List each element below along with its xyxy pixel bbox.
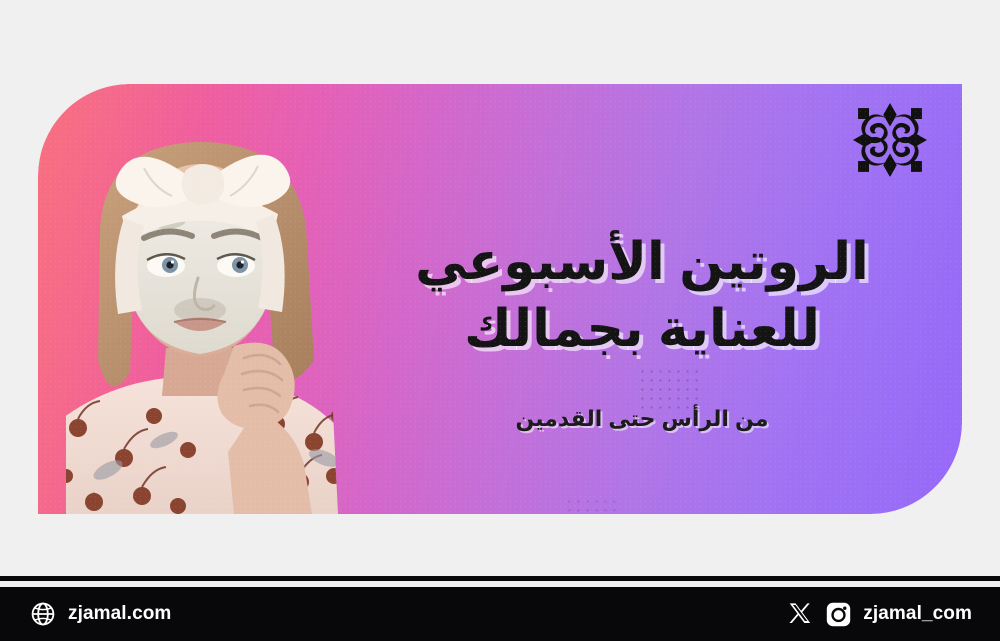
page-subtitle: من الرأس حتى القدمين (382, 406, 902, 432)
promo-banner-card: الروتين الأسبوعي للعناية بجمالك من الرأس… (38, 84, 962, 514)
social-handle-label: zjamal_com (863, 603, 972, 625)
model-photo-illustration (38, 110, 382, 514)
model-photo (38, 110, 382, 514)
website-group[interactable]: zjamal.com (30, 601, 171, 627)
dot-accent-primary (638, 367, 700, 409)
website-label: zjamal.com (68, 603, 171, 625)
arabesque-ornament-logo-icon (848, 98, 932, 182)
globe-icon (30, 601, 56, 627)
footer-bar: zjamal.com zjamal_com (0, 587, 1000, 641)
instagram-icon[interactable] (825, 601, 852, 628)
footer-top-rule (0, 576, 1000, 581)
social-group[interactable]: zjamal_com (787, 601, 972, 628)
page-title: الروتين الأسبوعي للعناية بجمالك (382, 229, 902, 362)
banner-screenshot: الروتين الأسبوعي للعناية بجمالك من الرأس… (0, 0, 1000, 641)
dot-accent-secondary (565, 497, 617, 514)
ornament-svg (848, 98, 932, 182)
x-twitter-icon[interactable] (787, 601, 814, 628)
